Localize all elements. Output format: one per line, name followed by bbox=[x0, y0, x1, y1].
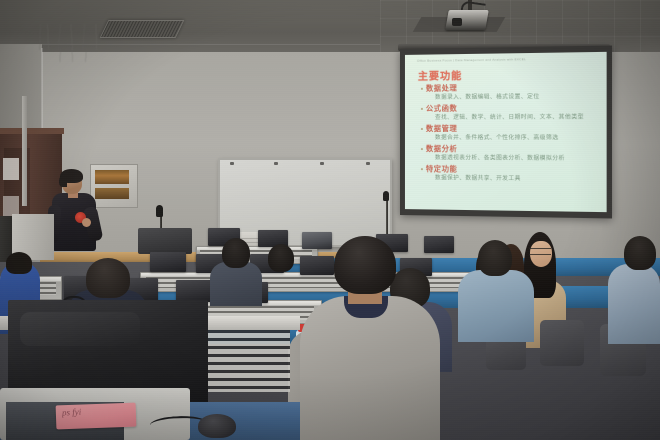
slide-bullet-detail: 查找、逻辑、数学、统计、日期时间、文本、其他类型 bbox=[421, 113, 602, 123]
slide-bullet-item: 数据管理 数据合并、条件格式、个性化排序、高级筛选 bbox=[421, 124, 602, 144]
whiteboard-clip bbox=[274, 162, 278, 165]
wall-notice bbox=[3, 158, 19, 180]
attendee-head bbox=[86, 258, 130, 298]
whiteboard-writing bbox=[38, 24, 124, 50]
attendee-torso bbox=[458, 270, 534, 342]
student-monitor bbox=[424, 236, 454, 253]
monitor-glare bbox=[20, 312, 140, 346]
projector-lens-icon bbox=[452, 18, 462, 26]
presenter-hand bbox=[82, 218, 91, 227]
slide-bullet-heading: 数据处理 bbox=[421, 82, 602, 94]
microphone-icon bbox=[383, 191, 389, 201]
slide-bullet-item: 数据分析 数据透视表分析、各类图表分析、数据模拟分析 bbox=[421, 144, 602, 164]
student-monitor bbox=[176, 280, 214, 302]
slide-bullet-item: 公式函数 查找、逻辑、数学、统计、日期时间、文本、其他类型 bbox=[421, 103, 602, 123]
slide-bullet-detail: 数据合并、条件格式、个性化排序、高级筛选 bbox=[421, 134, 602, 143]
slide-bullet-list: 数据处理 数据录入、数据编辑、格式设置、定位 公式函数 查找、逻辑、数学、统计、… bbox=[421, 82, 602, 186]
whiteboard-writing bbox=[56, 48, 108, 62]
attendee-head bbox=[624, 236, 656, 270]
wall-panel-insert bbox=[95, 170, 129, 184]
attendee-torso bbox=[608, 264, 660, 344]
instructor-monitor bbox=[138, 228, 192, 254]
slide-bullet-heading: 公式函数 bbox=[421, 103, 602, 114]
slide-bullet-item: 特定功能 数据保护、数据共享、开发工具 bbox=[421, 164, 602, 185]
wall-notice bbox=[3, 196, 19, 216]
presenter-hair-side bbox=[59, 175, 67, 187]
slide-bullet-heading: 数据分析 bbox=[421, 144, 602, 155]
slide-header-text: Office Business Focus | Data Management … bbox=[417, 56, 600, 63]
slide-bullet-detail: 数据录入、数据编辑、格式设置、定位 bbox=[421, 92, 602, 102]
attendee-torso bbox=[210, 262, 262, 306]
whiteboard-clip bbox=[366, 162, 370, 165]
projection-screen: Office Business Focus | Data Management … bbox=[400, 46, 612, 219]
presentation-slide: Office Business Focus | Data Management … bbox=[405, 52, 607, 212]
glasses-icon bbox=[529, 248, 551, 255]
attendee-head bbox=[268, 244, 294, 272]
microphone-stand bbox=[386, 197, 388, 239]
computer-mouse bbox=[198, 414, 236, 438]
slide-bullet-item: 数据处理 数据录入、数据编辑、格式设置、定位 bbox=[421, 82, 602, 103]
cabinet-top-edge bbox=[0, 128, 64, 134]
chair bbox=[540, 320, 584, 366]
wall-panel-insert bbox=[95, 188, 129, 199]
classroom-photo: Office Business Focus | Data Management … bbox=[0, 0, 660, 440]
slide-bullet-detail: 数据保护、数据共享、开发工具 bbox=[421, 174, 602, 185]
student-monitor bbox=[150, 252, 186, 272]
slide-bullet-heading: 数据管理 bbox=[421, 124, 602, 134]
slide-title: 主要功能 bbox=[418, 67, 462, 83]
student-monitor bbox=[302, 232, 332, 249]
attendee-head bbox=[6, 252, 32, 274]
whiteboard-clip bbox=[230, 162, 234, 165]
slide-bullet-detail: 数据透视表分析、各类图表分析、数据模拟分析 bbox=[421, 154, 602, 164]
foreground-attendee-head bbox=[334, 236, 396, 294]
door-frame bbox=[22, 96, 27, 206]
microphone-icon bbox=[156, 205, 163, 217]
whiteboard-clip bbox=[320, 162, 324, 165]
slide-bullet-heading: 特定功能 bbox=[421, 164, 602, 176]
student-monitor bbox=[300, 256, 334, 275]
attendee-head bbox=[478, 240, 512, 276]
attendee-head bbox=[222, 238, 250, 268]
